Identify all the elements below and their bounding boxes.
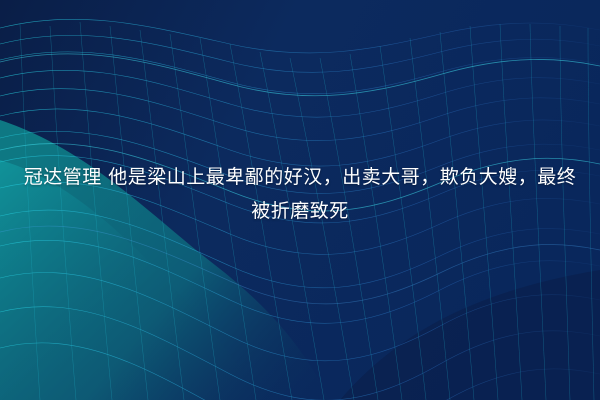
- headline-text: 冠达管理 他是梁山上最卑鄙的好汉，出卖大哥，欺负大嫂，最终被折磨致死: [17, 160, 583, 228]
- banner-image: 冠达管理 他是梁山上最卑鄙的好汉，出卖大哥，欺负大嫂，最终被折磨致死: [0, 0, 600, 400]
- headline-block: 冠达管理 他是梁山上最卑鄙的好汉，出卖大哥，欺负大嫂，最终被折磨致死: [0, 160, 600, 228]
